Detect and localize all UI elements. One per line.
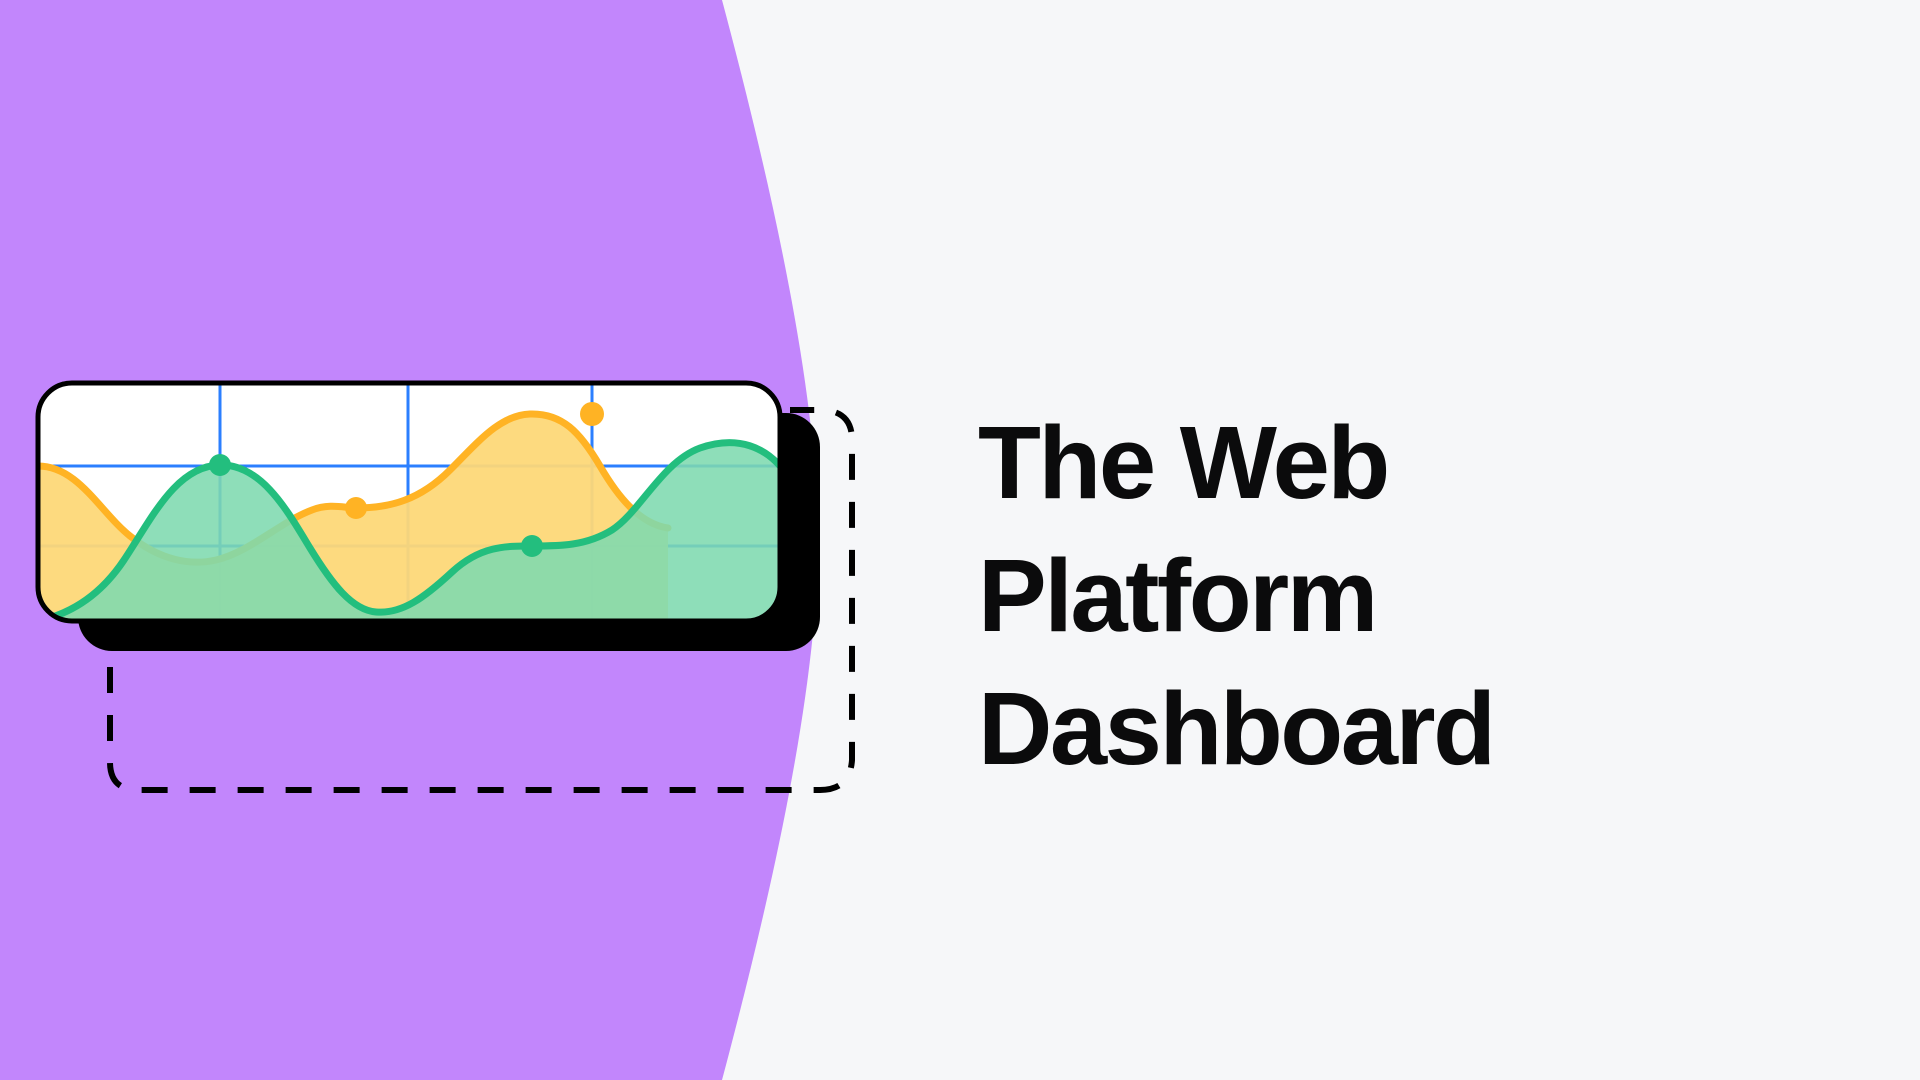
- card-body: [38, 383, 780, 621]
- page-title-line-3: Dashboard: [978, 662, 1778, 795]
- page-title-line-1: The Web: [978, 396, 1778, 529]
- data-point-green-2[interactable]: [521, 535, 543, 557]
- data-point-yellow-2[interactable]: [580, 402, 604, 426]
- hero-stage: The Web Platform Dashboard: [0, 0, 1920, 1080]
- page-title-line-2: Platform: [978, 529, 1778, 662]
- data-point-green-1[interactable]: [209, 454, 231, 476]
- page-title: The Web Platform Dashboard: [978, 396, 1778, 795]
- data-point-yellow-1[interactable]: [345, 497, 367, 519]
